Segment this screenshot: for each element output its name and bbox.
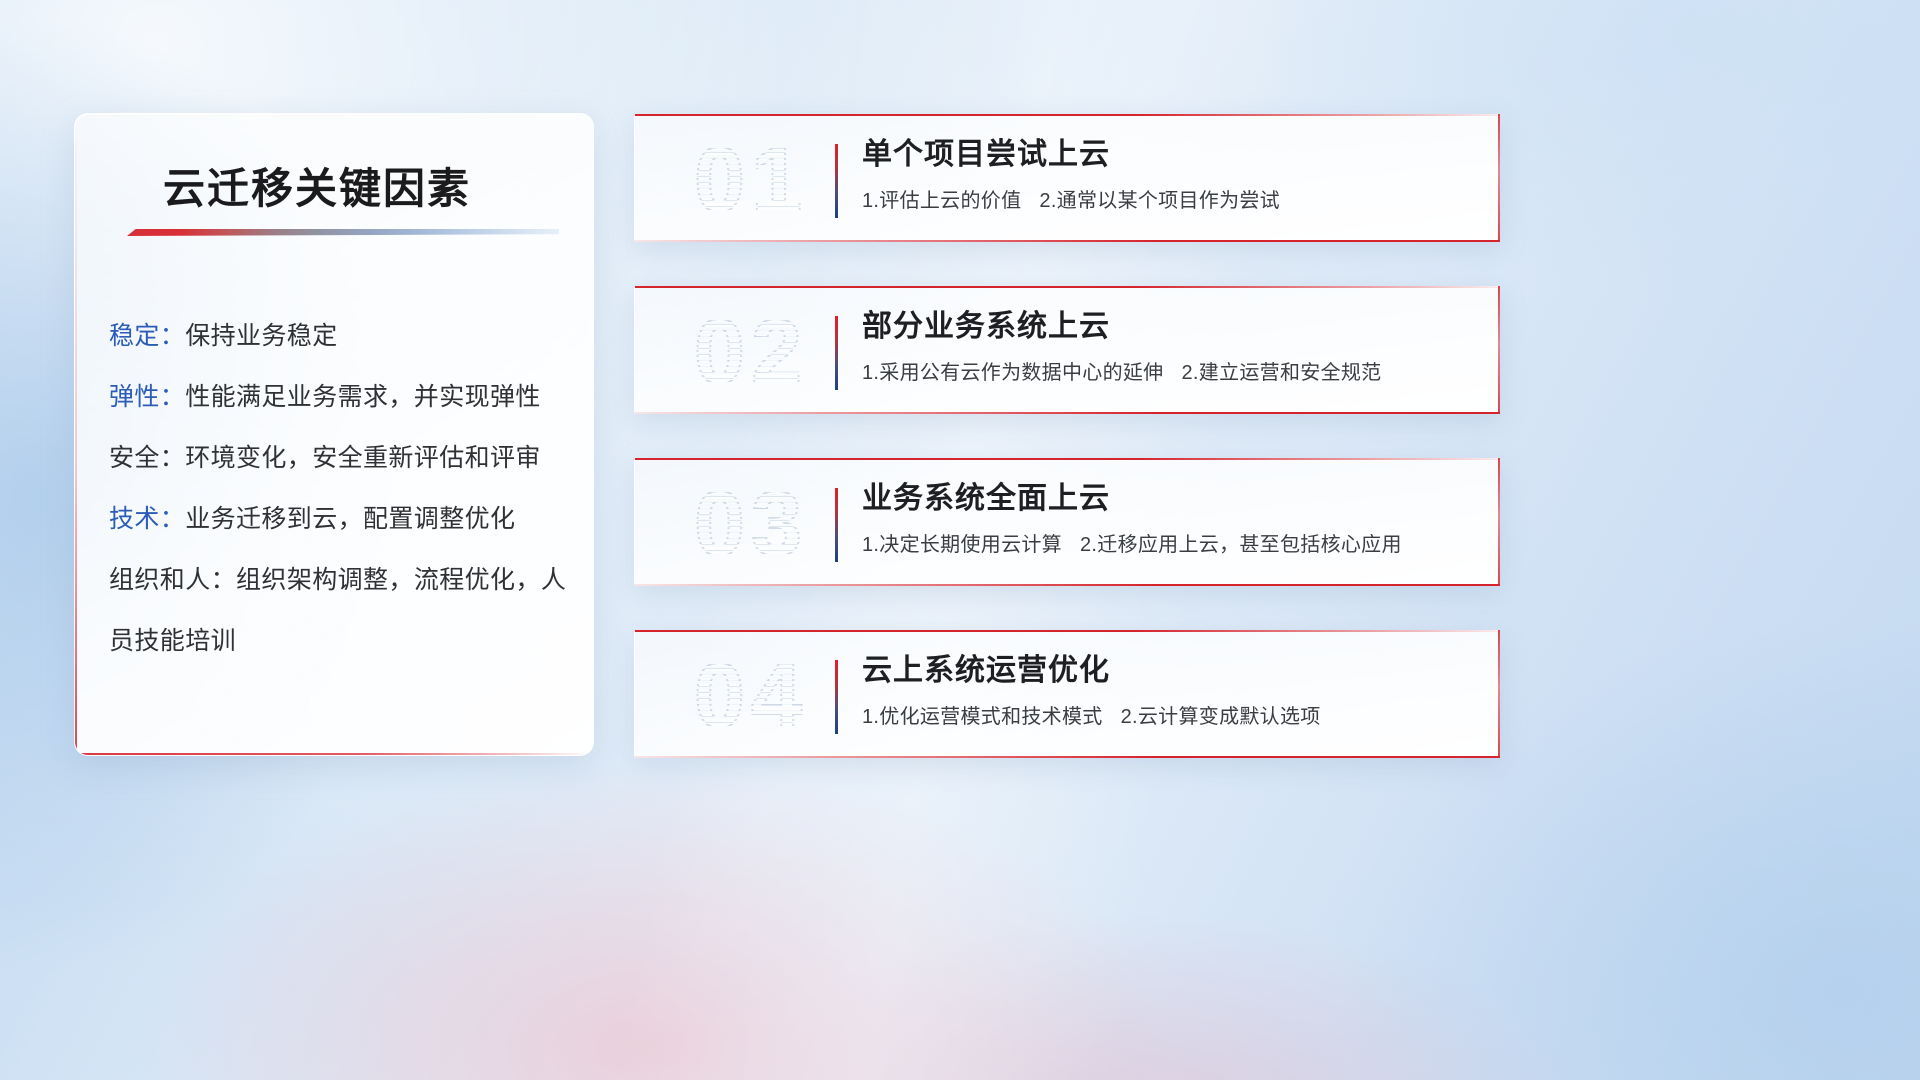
stage-card[interactable]: 04 04 云上系统运营优化 1.优化运营模式和技术模式2.云计算变成默认选项 xyxy=(634,630,1500,758)
factor-row: 弹性：性能满足业务需求，并实现弹性 xyxy=(109,367,567,428)
accent-bar xyxy=(835,660,838,734)
title-underline-gradient xyxy=(127,229,559,236)
factor-row: 组织和人：组织架构调整，流程优化，人员技能培训 xyxy=(109,550,567,672)
factor-text: 性能满足业务需求，并实现弹性 xyxy=(185,383,541,411)
stage-number-ghost: 04 xyxy=(656,644,846,748)
factor-label: 组织和人： xyxy=(109,566,236,594)
card-right-edge xyxy=(1498,630,1500,758)
card-description-item: 1.优化运营模式和技术模式 xyxy=(862,706,1103,728)
factor-label: 技术： xyxy=(109,505,185,533)
factor-text: 业务迁移到云，配置调整优化 xyxy=(185,505,515,533)
factor-label: 弹性： xyxy=(109,383,185,411)
page-title: 云迁移关键因素 xyxy=(163,155,471,216)
card-right-edge xyxy=(1498,458,1500,586)
factor-label: 安全： xyxy=(109,444,185,472)
stage-number-ghost: 03 xyxy=(656,472,846,576)
card-description-item: 1.决定长期使用云计算 xyxy=(862,534,1062,556)
card-description: 1.评估上云的价值2.通常以某个项目作为尝试 xyxy=(862,187,1476,215)
card-description: 1.采用公有云作为数据中心的延伸2.建立运营和安全规范 xyxy=(862,359,1476,387)
stage-card[interactable]: 03 03 业务系统全面上云 1.决定长期使用云计算2.迁移应用上云，甚至包括核… xyxy=(634,458,1500,586)
card-description-item: 1.评估上云的价值 xyxy=(862,190,1021,212)
card-body: 云上系统运营优化 1.优化运营模式和技术模式2.云计算变成默认选项 xyxy=(862,650,1476,731)
factor-row: 安全：环境变化，安全重新评估和评审 xyxy=(109,428,567,489)
factor-label: 稳定： xyxy=(109,322,185,350)
stage-number-ghost: 02 xyxy=(656,300,846,404)
card-left-edge xyxy=(634,458,635,586)
card-description-item: 2.云计算变成默认选项 xyxy=(1121,706,1321,728)
card-title: 单个项目尝试上云 xyxy=(862,134,1476,176)
factor-text: 环境变化，安全重新评估和评审 xyxy=(185,444,541,472)
card-title: 业务系统全面上云 xyxy=(862,478,1476,520)
accent-bar xyxy=(835,316,838,390)
card-description-item: 2.建立运营和安全规范 xyxy=(1181,362,1381,384)
key-factors-panel: 云迁移关键因素 稳定：保持业务稳定 弹性：性能满足业务需求，并实现弹性 安全：环… xyxy=(74,113,594,756)
card-left-edge xyxy=(634,286,635,414)
stage-card[interactable]: 02 02 部分业务系统上云 1.采用公有云作为数据中心的延伸2.建立运营和安全… xyxy=(634,286,1500,414)
card-description: 1.决定长期使用云计算2.迁移应用上云，甚至包括核心应用 xyxy=(862,531,1476,559)
card-body: 部分业务系统上云 1.采用公有云作为数据中心的延伸2.建立运营和安全规范 xyxy=(862,306,1476,387)
card-body: 单个项目尝试上云 1.评估上云的价值2.通常以某个项目作为尝试 xyxy=(862,134,1476,215)
card-right-edge xyxy=(1498,286,1500,414)
card-body: 业务系统全面上云 1.决定长期使用云计算2.迁移应用上云，甚至包括核心应用 xyxy=(862,478,1476,559)
accent-bar xyxy=(835,488,838,562)
card-left-edge xyxy=(634,630,635,758)
factor-row: 技术：业务迁移到云，配置调整优化 xyxy=(109,489,567,550)
card-left-edge xyxy=(634,114,635,242)
accent-bar xyxy=(835,144,838,218)
card-title: 云上系统运营优化 xyxy=(862,650,1476,692)
stage-card[interactable]: 01 01 单个项目尝试上云 1.评估上云的价值2.通常以某个项目作为尝试 xyxy=(634,114,1500,242)
stage-card-list: 01 01 单个项目尝试上云 1.评估上云的价值2.通常以某个项目作为尝试 02… xyxy=(634,114,1500,802)
card-description-item: 1.采用公有云作为数据中心的延伸 xyxy=(862,362,1163,384)
factor-text: 保持业务稳定 xyxy=(185,322,337,350)
stage-number-ghost: 01 xyxy=(656,128,846,232)
factor-row: 稳定：保持业务稳定 xyxy=(109,306,567,367)
card-description-item: 2.通常以某个项目作为尝试 xyxy=(1039,190,1280,212)
card-right-edge xyxy=(1498,114,1500,242)
card-title: 部分业务系统上云 xyxy=(862,306,1476,348)
card-description: 1.优化运营模式和技术模式2.云计算变成默认选项 xyxy=(862,703,1476,731)
card-description-item: 2.迁移应用上云，甚至包括核心应用 xyxy=(1080,534,1402,556)
factor-list: 稳定：保持业务稳定 弹性：性能满足业务需求，并实现弹性 安全：环境变化，安全重新… xyxy=(109,306,567,672)
